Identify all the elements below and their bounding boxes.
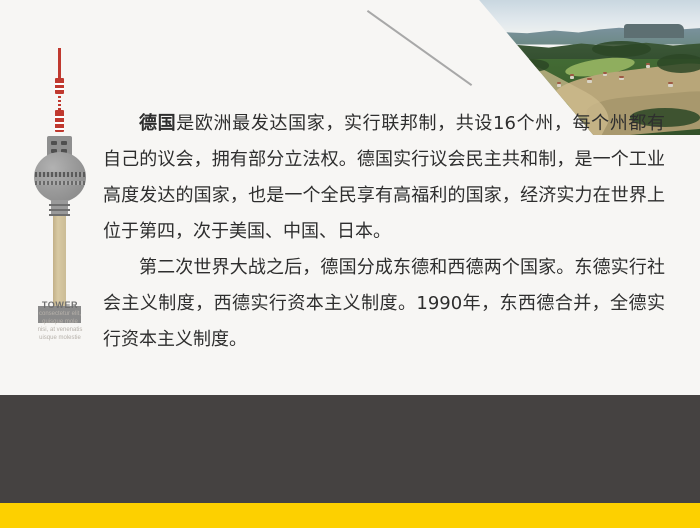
tower-antenna-segment xyxy=(55,110,64,132)
photo-tree-cluster xyxy=(511,59,549,71)
photo-house xyxy=(570,76,574,79)
tower-caption-line: consectetur elit, xyxy=(0,310,120,318)
tower-antenna-dots xyxy=(58,96,61,110)
photo-house xyxy=(646,65,650,68)
tower-caption-line: quisque mole xyxy=(0,318,120,326)
tower-caption: TOWER consectetur elit, quisque mole nis… xyxy=(0,300,120,342)
tower-ring xyxy=(49,209,70,211)
photo-roof xyxy=(587,78,592,80)
paragraph-1: 德国是欧洲最发达国家，实行联邦制，共设16个州，每个州都有自己的议会，拥有部分立… xyxy=(103,106,665,250)
photo-roof xyxy=(489,93,493,95)
tower-ring xyxy=(49,204,70,206)
photo-tree-cluster xyxy=(592,41,651,57)
photo-house xyxy=(587,80,592,83)
body-copy: 德国是欧洲最发达国家，实行联邦制，共设16个州，每个州都有自己的议会，拥有部分立… xyxy=(103,106,665,358)
paragraph-1-rest: 是欧洲最发达国家，实行联邦制，共设16个州，每个州都有自己的议会，拥有部分立法权… xyxy=(103,113,665,242)
slide-canvas: TOWER consectetur elit, quisque mole nis… xyxy=(0,0,700,528)
tower-window-band xyxy=(35,172,85,177)
tv-tower-illustration xyxy=(30,48,92,308)
footer-accent-bar xyxy=(0,503,700,528)
paragraph-1-lead: 德国 xyxy=(139,113,176,134)
diagonal-accent-line xyxy=(367,10,472,86)
paragraph-2: 第二次世界大战之后，德国分成东德和西德两个国家。东德实行社会主义制度，西德实行资… xyxy=(103,250,665,358)
photo-table-mountain xyxy=(624,24,683,38)
footer-dark-bar xyxy=(0,395,700,503)
photo-tree-cluster xyxy=(657,54,700,73)
photo-house xyxy=(489,95,493,98)
photo-roof xyxy=(543,88,547,90)
tower-antenna-spire xyxy=(58,48,61,78)
tower-window-band xyxy=(35,181,85,185)
photo-house xyxy=(557,84,561,87)
tower-antenna-segment xyxy=(55,78,64,94)
photo-house xyxy=(668,84,673,87)
tower-caption-line: uisque molestie xyxy=(0,334,120,342)
tower-caption-line: nisi, at venenatis xyxy=(0,326,120,334)
photo-roof xyxy=(603,72,607,74)
photo-house xyxy=(543,89,547,92)
photo-roof xyxy=(619,76,624,78)
tower-sphere xyxy=(34,152,86,202)
tower-caption-title: TOWER xyxy=(0,300,120,310)
